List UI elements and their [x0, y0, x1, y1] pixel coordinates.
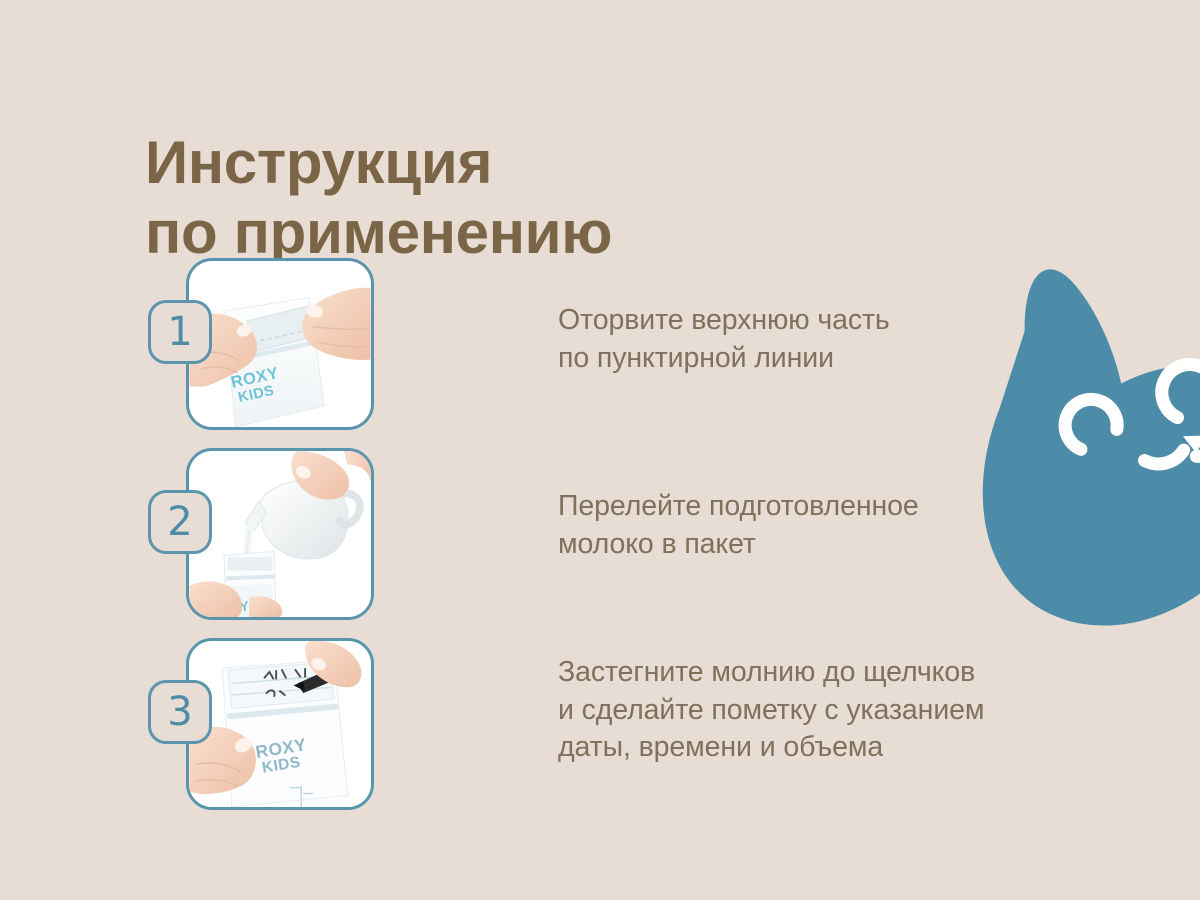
step-number-badge-3: 3 — [148, 680, 212, 744]
step-2-photo-card: XY — [186, 448, 374, 620]
cat-head-shape — [936, 259, 1200, 671]
page-title: Инструкция по применению — [145, 128, 905, 267]
cat-mouth-left-icon — [1144, 440, 1183, 472]
step-1-photo-card: ROXY KIDS — [186, 258, 374, 430]
step-1-illustration: ROXY KIDS — [189, 261, 371, 427]
step-2-illustration: XY — [189, 451, 371, 617]
step-3-text: Застегните молнию до щелчков и сделайте … — [388, 638, 984, 767]
cat-left-eye-icon — [1058, 393, 1123, 458]
step-number-badge-2: 2 — [148, 490, 212, 554]
step-2-text: Перелейте подготовленное молоко в пакет — [388, 448, 919, 563]
step-item-3: ROXY KIDS — [148, 638, 984, 813]
step-3-photo-card: ROXY KIDS — [186, 638, 374, 810]
step-1-visual: ROXY KIDS — [148, 258, 388, 433]
cat-right-eye-icon — [1155, 357, 1200, 427]
step-3-visual: ROXY KIDS — [148, 638, 388, 813]
step-number-badge-1: 1 — [148, 300, 212, 364]
step-item-1: ROXY KIDS — [148, 258, 890, 433]
instruction-poster: Инструкция по применению — [0, 0, 1200, 900]
cat-mouth-right-icon — [1196, 420, 1200, 463]
step-3-illustration: ROXY KIDS — [189, 641, 371, 807]
step-1-text: Оторвите верхнюю часть по пунктирной лин… — [388, 258, 890, 377]
step-2-visual: XY 2 — [148, 448, 388, 623]
step-item-2: XY 2 — [148, 448, 919, 623]
cat-face-decoration — [930, 250, 1200, 670]
cat-nose-icon — [1179, 429, 1200, 455]
